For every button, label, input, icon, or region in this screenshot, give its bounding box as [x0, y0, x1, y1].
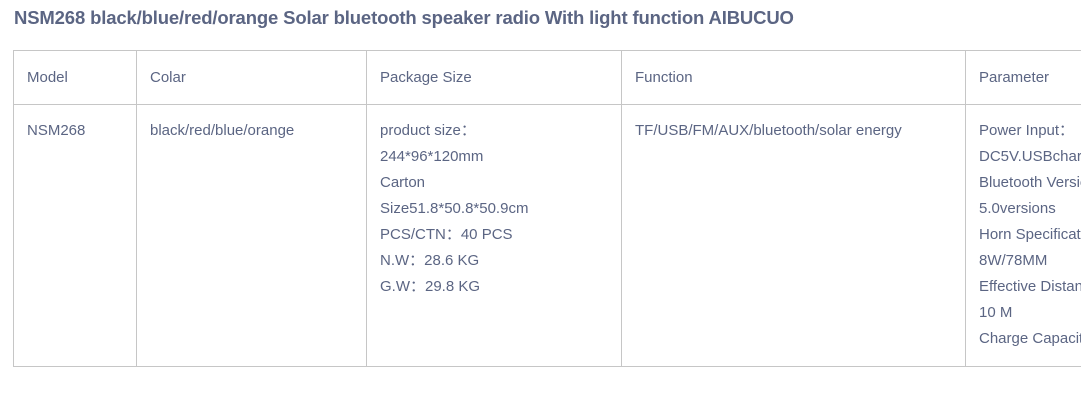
table-header-row: Model Colar Package Size Function Parame…	[14, 51, 1081, 105]
cell-package-size: product size：244*96*120mmCartonSize51.8*…	[367, 105, 622, 367]
text-line: G.W：29.8 KG	[380, 274, 609, 300]
text-line: 8W/78MM	[979, 248, 1081, 274]
text-line: 5.0versions	[979, 196, 1081, 222]
text-line: Bluetooth Version：	[979, 170, 1081, 196]
table-row: NSM268 black/red/blue/orange product siz…	[14, 105, 1081, 367]
text-line: Horn Specification：	[979, 222, 1081, 248]
cell-colar: black/red/blue/orange	[137, 105, 367, 367]
text-line: Effective Distance：	[979, 274, 1081, 300]
column-header-parameter: Parameter	[966, 51, 1081, 105]
column-header-model: Model	[14, 51, 137, 105]
package-size-lines: product size：244*96*120mmCartonSize51.8*…	[380, 118, 609, 300]
text-line: Carton	[380, 170, 609, 196]
text-line: PCS/CTN：40 PCS	[380, 222, 609, 248]
column-header-package-size: Package Size	[367, 51, 622, 105]
text-line: N.W：28.6 KG	[380, 248, 609, 274]
specification-table: Model Colar Package Size Function Parame…	[13, 50, 1081, 367]
table-body: NSM268 black/red/blue/orange product siz…	[14, 105, 1081, 367]
text-line: Charge Capacity：800 MAH	[979, 326, 1081, 352]
text-line: 10 M	[979, 300, 1081, 326]
column-header-colar: Colar	[137, 51, 367, 105]
page-title: NSM268 black/blue/red/orange Solar bluet…	[14, 6, 1064, 30]
text-line: 244*96*120mm	[380, 144, 609, 170]
function-lines: TF/USB/FM/AUX/bluetooth/solar energy	[635, 118, 953, 144]
column-header-function: Function	[622, 51, 966, 105]
text-line: Power Input：	[979, 118, 1081, 144]
cell-parameter: Power Input：DC5V.USBchargeBluetooth Vers…	[966, 105, 1081, 367]
text-line: Size51.8*50.8*50.9cm	[380, 196, 609, 222]
cell-function: TF/USB/FM/AUX/bluetooth/solar energy	[622, 105, 966, 367]
parameter-lines: Power Input：DC5V.USBchargeBluetooth Vers…	[979, 118, 1081, 352]
product-spec-page: NSM268 black/blue/red/orange Solar bluet…	[0, 0, 1081, 405]
text-line: TF/USB/FM/AUX/bluetooth/solar energy	[635, 118, 953, 144]
table-header: Model Colar Package Size Function Parame…	[14, 51, 1081, 105]
cell-model: NSM268	[14, 105, 137, 367]
text-line: DC5V.USBcharge	[979, 144, 1081, 170]
text-line: product size：	[380, 118, 609, 144]
